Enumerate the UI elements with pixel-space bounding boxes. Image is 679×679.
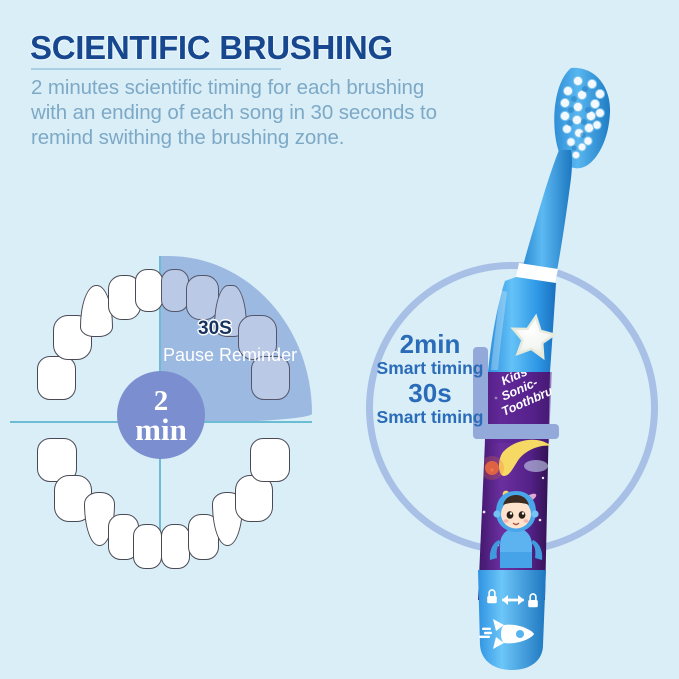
badge-unit: min bbox=[135, 415, 187, 445]
timing-2min-value: 2min bbox=[375, 330, 485, 358]
timing-30s-value: 30s bbox=[375, 379, 485, 407]
timing-2min-label: Smart timing bbox=[375, 358, 485, 379]
smart-timing-callout: 2min Smart timing 30s Smart timing bbox=[375, 330, 485, 428]
two-minute-badge: 2 min bbox=[117, 371, 205, 459]
handle-base bbox=[478, 570, 546, 670]
quadrant-time-label: 30S bbox=[198, 318, 232, 340]
quadrant-pause-label: Pause Reminder bbox=[163, 345, 297, 366]
timing-30s-label: Smart timing bbox=[375, 407, 485, 428]
clock-hand-horizontal bbox=[473, 424, 559, 439]
brush-neck bbox=[522, 150, 572, 276]
infographic-canvas: SCIENTIFIC BRUSHING 2 minutes scientific… bbox=[0, 0, 679, 679]
badge-value: 2 bbox=[154, 386, 169, 416]
toothbrush-product-image: Kids- Sonic- Toothbrush bbox=[0, 0, 679, 679]
